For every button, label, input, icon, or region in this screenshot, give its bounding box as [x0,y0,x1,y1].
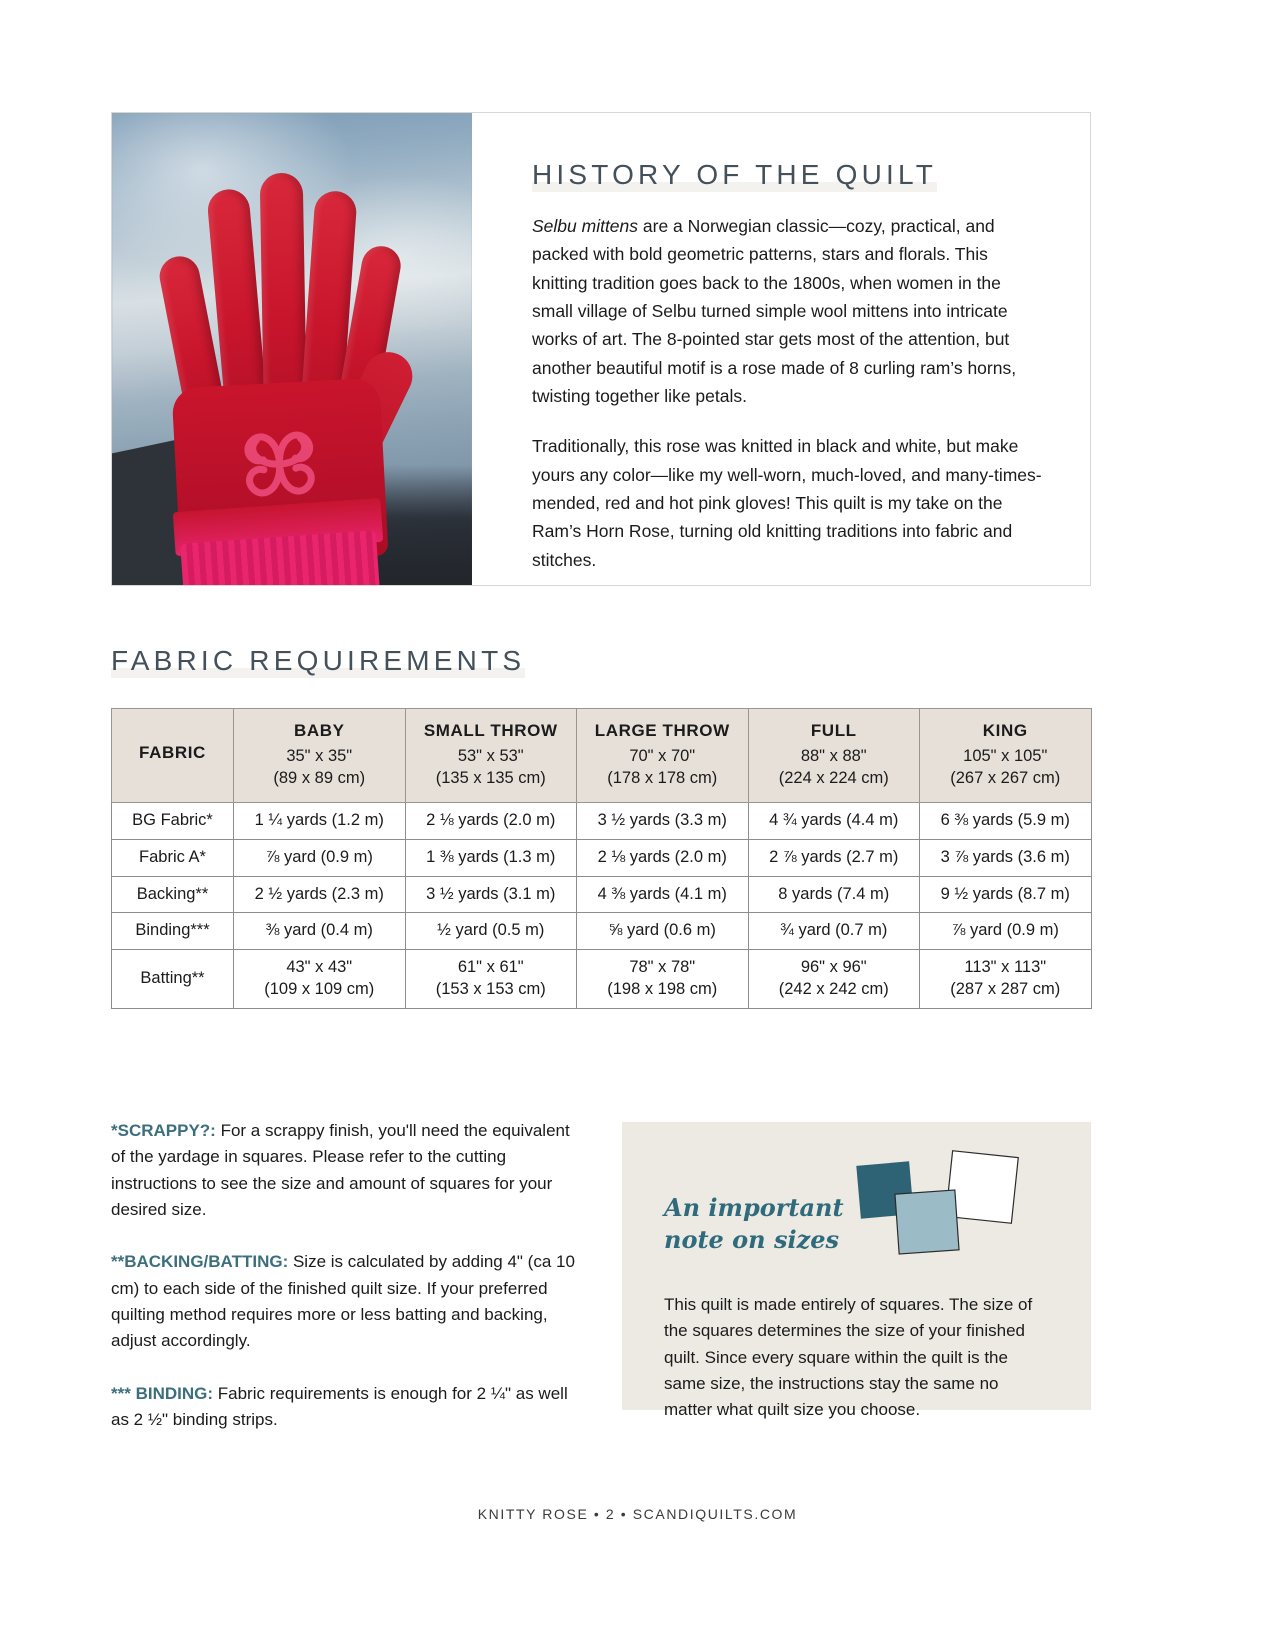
column-header-large-throw-name: LARGE THROW [581,720,744,742]
table-row: Binding*** ⅜ yard (0.4 m) ½ yard (0.5 m)… [112,913,1092,950]
cell-batting-king-inches: 113" x 113" [964,958,1046,976]
page: HISTORY OF THE QUILT Selbu mittens are a… [0,0,1275,1650]
column-header-baby-name: BABY [238,720,401,742]
cell-batting-baby: 43" x 43" (109 x 109 cm) [234,950,406,1009]
column-header-small-throw-cm: (135 x 135 cm) [410,768,573,790]
column-header-large-throw-inches: 70" x 70" [581,746,744,768]
cell-batting-king-cm: (287 x 287 cm) [950,980,1060,998]
history-paragraph-1: Selbu mittens are a Norwegian classic—co… [532,212,1044,410]
footnote-binding: *** BINDING: Fabric requirements is enou… [111,1381,581,1434]
column-header-large-throw-cm: (178 x 178 cm) [581,768,744,790]
cell-batting-full-cm: (242 x 242 cm) [779,980,889,998]
cell-fabric-a-full: 2 ⅞ yards (2.7 m) [748,839,920,876]
row-label-fabric-a: Fabric A* [112,839,234,876]
cell-batting-full: 96" x 96" (242 x 242 cm) [748,950,920,1009]
note-box-title-line2: note on sizes [664,1225,839,1254]
footnotes-block: *SCRAPPY?: For a scrappy finish, you'll … [111,1118,581,1459]
glove-photo [112,113,472,585]
cell-backing-baby: 2 ½ yards (2.3 m) [234,876,406,913]
cell-fabric-a-small-throw: 1 ⅜ yards (1.3 m) [405,839,577,876]
table-body: BG Fabric* 1 ¼ yards (1.2 m) 2 ⅛ yards (… [112,802,1092,1008]
cell-batting-full-inches: 96" x 96" [801,958,867,976]
table-row: Batting** 43" x 43" (109 x 109 cm) 61" x… [112,950,1092,1009]
column-header-baby-inches: 35" x 35" [238,746,401,768]
column-header-full-inches: 88" x 88" [753,746,916,768]
column-header-fabric: FABRIC [112,709,234,803]
cell-bg-fabric-king: 6 ⅜ yards (5.9 m) [920,802,1092,839]
history-hero-panel: HISTORY OF THE QUILT Selbu mittens are a… [111,112,1091,586]
footnote-backing-batting: **BACKING/BATTING: Size is calculated by… [111,1249,581,1354]
page-footer: KNITTY ROSE • 2 • SCANDIQUILTS.COM [0,1506,1275,1522]
column-header-full-name: FULL [753,720,916,742]
footnote-scrappy-label: *SCRAPPY?: [111,1121,216,1140]
column-header-fabric-name: FABRIC [116,742,229,764]
column-header-king-name: KING [924,720,1087,742]
column-header-king: KING 105" x 105" (267 x 267 cm) [920,709,1092,803]
cell-batting-small-throw: 61" x 61" (153 x 153 cm) [405,950,577,1009]
cell-binding-small-throw: ½ yard (0.5 m) [405,913,577,950]
row-label-binding: Binding*** [112,913,234,950]
cell-bg-fabric-large-throw: 3 ½ yards (3.3 m) [577,802,749,839]
column-header-full-cm: (224 x 224 cm) [753,768,916,790]
table-header: FABRIC BABY 35" x 35" (89 x 89 cm) SMALL… [112,709,1092,803]
table-row: BG Fabric* 1 ¼ yards (1.2 m) 2 ⅛ yards (… [112,802,1092,839]
cell-binding-baby: ⅜ yard (0.4 m) [234,913,406,950]
column-header-baby-cm: (89 x 89 cm) [238,768,401,790]
history-paragraph-1-rest: are a Norwegian classic—cozy, practical,… [532,216,1016,406]
column-header-large-throw: LARGE THROW 70" x 70" (178 x 178 cm) [577,709,749,803]
cell-binding-large-throw: ⅝ yard (0.6 m) [577,913,749,950]
cell-batting-small-throw-cm: (153 x 153 cm) [436,980,546,998]
cell-backing-full: 8 yards (7.4 m) [748,876,920,913]
fabric-requirements-table: FABRIC BABY 35" x 35" (89 x 89 cm) SMALL… [111,708,1092,1009]
cell-backing-small-throw: 3 ½ yards (3.1 m) [405,876,577,913]
cell-bg-fabric-full: 4 ¾ yards (4.4 m) [748,802,920,839]
knitted-glove [164,137,414,577]
cell-batting-large-throw-inches: 78" x 78" [629,958,695,976]
row-label-batting: Batting** [112,950,234,1009]
column-header-king-cm: (267 x 267 cm) [924,768,1087,790]
cell-batting-large-throw: 78" x 78" (198 x 198 cm) [577,950,749,1009]
column-header-baby: BABY 35" x 35" (89 x 89 cm) [234,709,406,803]
cell-backing-king: 9 ½ yards (8.7 m) [920,876,1092,913]
note-box-title: An important note on sizes [664,1192,864,1256]
cell-fabric-a-large-throw: 2 ⅛ yards (2.0 m) [577,839,749,876]
cell-batting-baby-inches: 43" x 43" [286,958,352,976]
cell-bg-fabric-baby: 1 ¼ yards (1.2 m) [234,802,406,839]
three-tilted-squares-icon [853,1148,1043,1268]
cell-batting-small-throw-inches: 61" x 61" [458,958,524,976]
table-row: Fabric A* ⅞ yard (0.9 m) 1 ⅜ yards (1.3 … [112,839,1092,876]
cell-fabric-a-king: 3 ⅞ yards (3.6 m) [920,839,1092,876]
history-section-title: HISTORY OF THE QUILT [532,157,937,192]
note-box-title-line1: An important [664,1193,844,1222]
note-box-body: This quilt is made entirely of squares. … [664,1292,1049,1424]
cell-batting-large-throw-cm: (198 x 198 cm) [607,980,717,998]
cell-binding-full: ¾ yard (0.7 m) [748,913,920,950]
column-header-king-inches: 105" x 105" [924,746,1087,768]
table-row: Backing** 2 ½ yards (2.3 m) 3 ½ yards (3… [112,876,1092,913]
footnote-binding-label: *** BINDING: [111,1384,213,1403]
fabric-requirements-title: FABRIC REQUIREMENTS [111,643,525,678]
cell-binding-king: ⅞ yard (0.9 m) [920,913,1092,950]
history-text-block: HISTORY OF THE QUILT Selbu mittens are a… [472,113,1090,585]
selbu-mittens-italic: Selbu mittens [532,216,638,236]
footnote-scrappy: *SCRAPPY?: For a scrappy finish, you'll … [111,1118,581,1223]
column-header-small-throw-name: SMALL THROW [410,720,573,742]
cell-fabric-a-baby: ⅞ yard (0.9 m) [234,839,406,876]
row-label-bg-fabric: BG Fabric* [112,802,234,839]
cell-batting-king: 113" x 113" (287 x 287 cm) [920,950,1092,1009]
column-header-small-throw-inches: 53" x 53" [410,746,573,768]
history-paragraph-2: Traditionally, this rose was knitted in … [532,432,1044,574]
cell-backing-large-throw: 4 ⅜ yards (4.1 m) [577,876,749,913]
column-header-full: FULL 88" x 88" (224 x 224 cm) [748,709,920,803]
important-note-box: An important note on sizes This quilt is… [622,1122,1091,1410]
row-label-backing: Backing** [112,876,234,913]
column-header-small-throw: SMALL THROW 53" x 53" (135 x 135 cm) [405,709,577,803]
cell-bg-fabric-small-throw: 2 ⅛ yards (2.0 m) [405,802,577,839]
footnote-backing-batting-label: **BACKING/BATTING: [111,1252,288,1271]
cell-batting-baby-cm: (109 x 109 cm) [264,980,374,998]
table-header-row: FABRIC BABY 35" x 35" (89 x 89 cm) SMALL… [112,709,1092,803]
